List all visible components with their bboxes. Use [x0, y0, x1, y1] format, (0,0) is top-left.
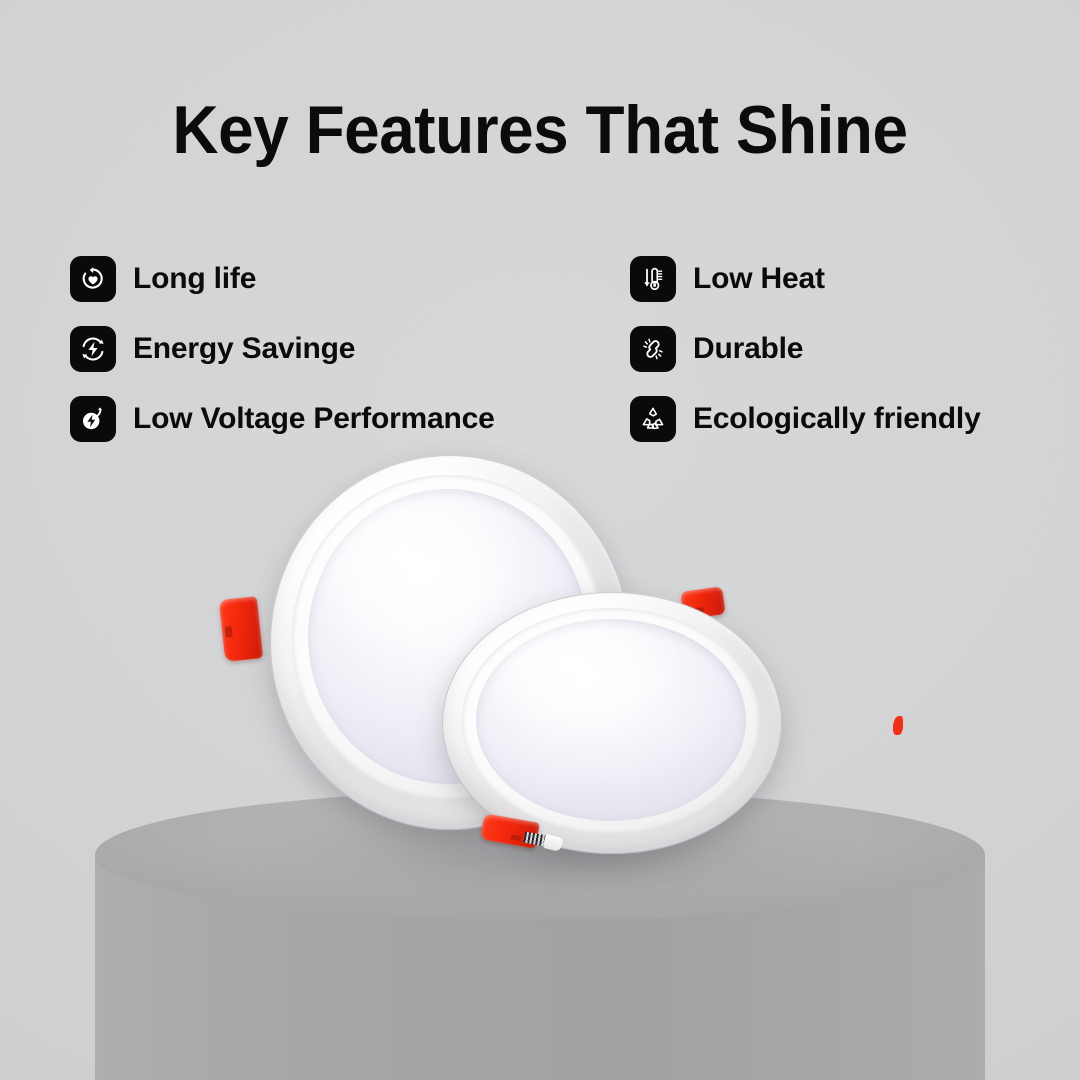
pedestal-shadow	[250, 800, 850, 905]
small-downlight-bezel	[462, 608, 760, 834]
thermometer-down-arrow-icon	[630, 256, 676, 302]
small-downlight-rim	[442, 592, 782, 854]
feature-item-long-life: Long life	[70, 244, 630, 314]
feature-label: Ecologically friendly	[693, 402, 981, 436]
pedestal-body	[95, 855, 985, 1080]
small-downlight-spring-tip	[543, 834, 564, 852]
feature-label: Durable	[693, 332, 803, 366]
large-downlight-rim-edge	[270, 455, 630, 830]
feature-item-durable: Durable	[630, 314, 1030, 384]
feature-label: Low Heat	[693, 262, 825, 296]
large-downlight	[270, 455, 630, 830]
large-downlight-bezel	[292, 475, 604, 800]
large-downlight-gloss	[308, 489, 588, 784]
small-downlight-clip-bottom	[480, 813, 540, 848]
stray-red-mark	[893, 716, 903, 735]
product-feature-poster: Key Features That Shine Long life	[0, 0, 1080, 1080]
bolt-circle-arrow-up-icon	[70, 396, 116, 442]
large-downlight-clip-right	[680, 586, 725, 620]
recycle-icon	[630, 396, 676, 442]
feature-item-ecologically-friendly: Ecologically friendly	[630, 384, 1030, 454]
pedestal-top	[95, 790, 985, 920]
large-downlight-rim	[270, 455, 630, 830]
feature-label: Low Voltage Performance	[133, 402, 495, 436]
large-downlight-diffuser	[308, 489, 588, 784]
small-downlight-spring	[523, 832, 552, 848]
large-downlight-clip-left	[219, 596, 263, 662]
page-title: Key Features That Shine	[32, 96, 1047, 164]
feature-item-low-voltage-performance: Low Voltage Performance	[70, 384, 630, 454]
small-downlight-rim-edge	[442, 592, 782, 854]
feature-label: Energy Savinge	[133, 332, 355, 366]
feature-item-low-heat: Low Heat	[630, 244, 1030, 314]
bolt-refresh-icon	[70, 326, 116, 372]
small-downlight-gloss	[476, 619, 746, 821]
small-downlight	[442, 592, 782, 854]
chain-link-icon	[630, 326, 676, 372]
feature-label: Long life	[133, 262, 256, 296]
feature-item-energy-savinge: Energy Savinge	[70, 314, 630, 384]
feature-list: Long life Low Heat	[70, 244, 1030, 454]
heart-refresh-icon	[70, 256, 116, 302]
small-downlight-diffuser	[476, 619, 746, 821]
